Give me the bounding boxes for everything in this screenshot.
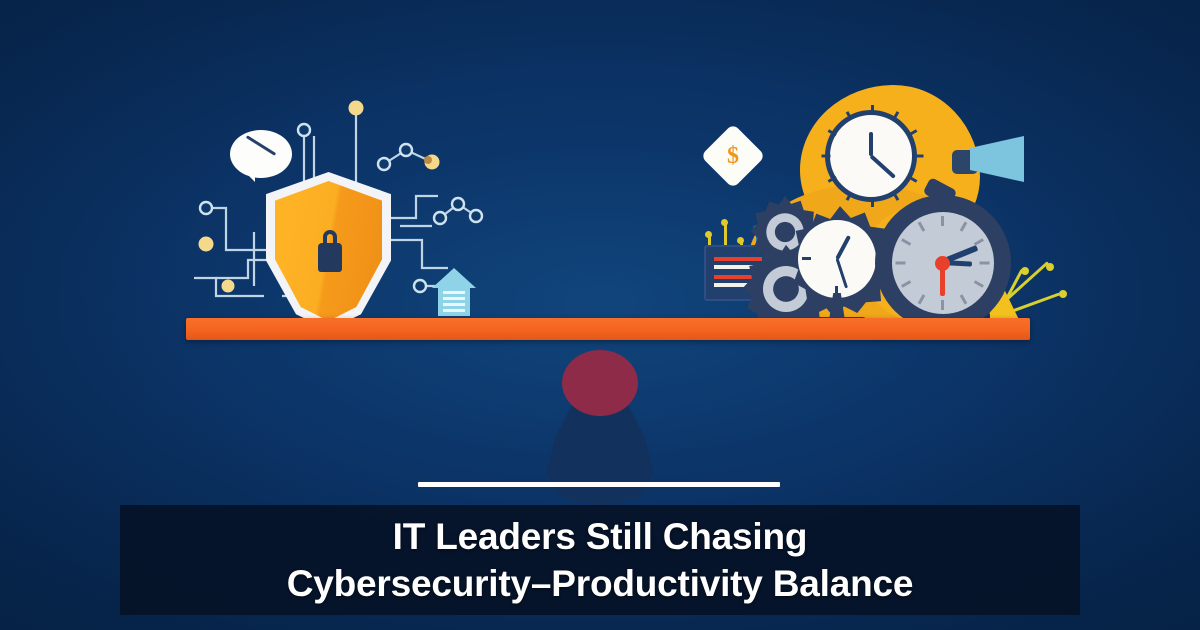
house-line (443, 309, 465, 312)
clock-tick (802, 257, 811, 260)
house-line (443, 291, 465, 294)
productivity-group: $ (690, 85, 1050, 325)
clock-gear-icon (798, 220, 876, 298)
title-band: IT Leaders Still Chasing Cybersecurity–P… (120, 505, 1080, 615)
megaphone-icon (952, 130, 1027, 190)
stopwatch-face (892, 212, 994, 314)
cybersecurity-group (186, 100, 486, 325)
speech-bubble-icon (230, 130, 292, 178)
megaphone-cone (970, 136, 1024, 182)
house-line (443, 303, 465, 306)
house-document-icon (432, 268, 476, 316)
fulcrum-ball (562, 350, 638, 416)
page-title-line-2: Cybersecurity–Productivity Balance (287, 560, 914, 607)
clock-hour-hand (869, 132, 873, 156)
dollar-sign: $ (710, 133, 756, 179)
stopwatch-center-pin (935, 256, 950, 271)
title-divider (418, 482, 780, 487)
page-title-line-1: IT Leaders Still Chasing (393, 513, 808, 560)
balance-beam (186, 318, 1030, 340)
shield-icon (266, 172, 391, 330)
dollar-diamond-icon: $ (700, 123, 765, 188)
house-body (438, 286, 470, 316)
banner-canvas: $ (0, 0, 1200, 630)
padlock-body (318, 243, 342, 272)
pen-icon (246, 135, 276, 156)
house-roof (432, 268, 476, 288)
padlock-icon (318, 230, 342, 272)
wall-clock-icon (825, 110, 917, 202)
house-line (443, 297, 465, 300)
stopwatch-icon (875, 195, 1011, 331)
